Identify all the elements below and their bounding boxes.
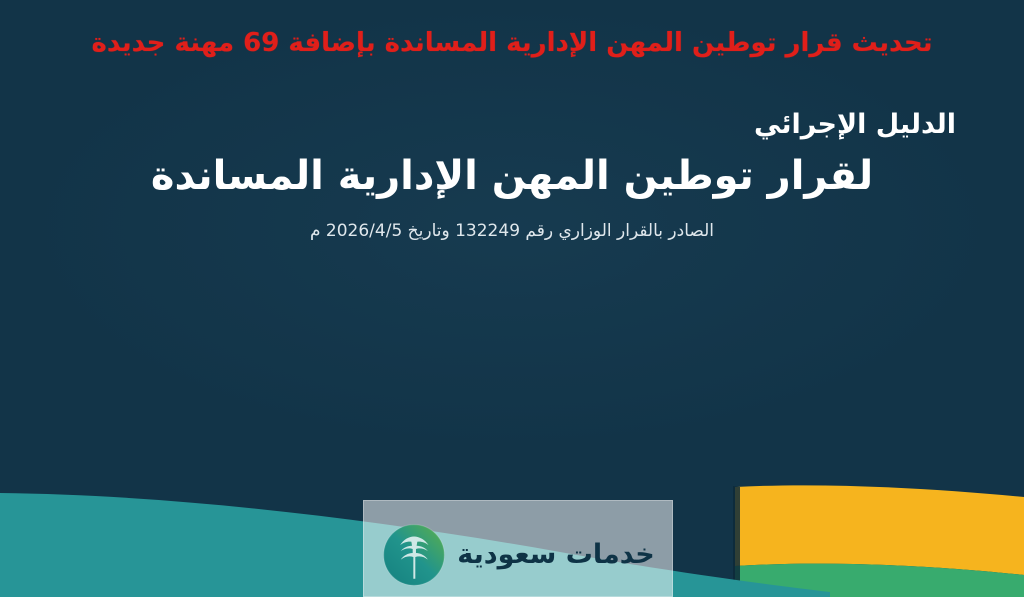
saudi-palm-circle-logo-icon [381,522,447,588]
decision-reference-subtitle: الصادر بالقرار الوزاري رقم 132249 وتاريخ… [68,220,956,242]
watermark-box: خدمات سعودية [363,500,673,597]
document-cover-page: تحديث قرار توطين المهن الإدارية المساندة… [0,0,1024,597]
title-line-1: الدليل الإجرائي [754,108,956,142]
headline-red: تحديث قرار توطين المهن الإدارية المساندة… [0,26,1024,61]
title-line-2: لقرار توطين المهن الإدارية المساندة [68,152,956,200]
watermark-label: خدمات سعودية [457,539,655,570]
